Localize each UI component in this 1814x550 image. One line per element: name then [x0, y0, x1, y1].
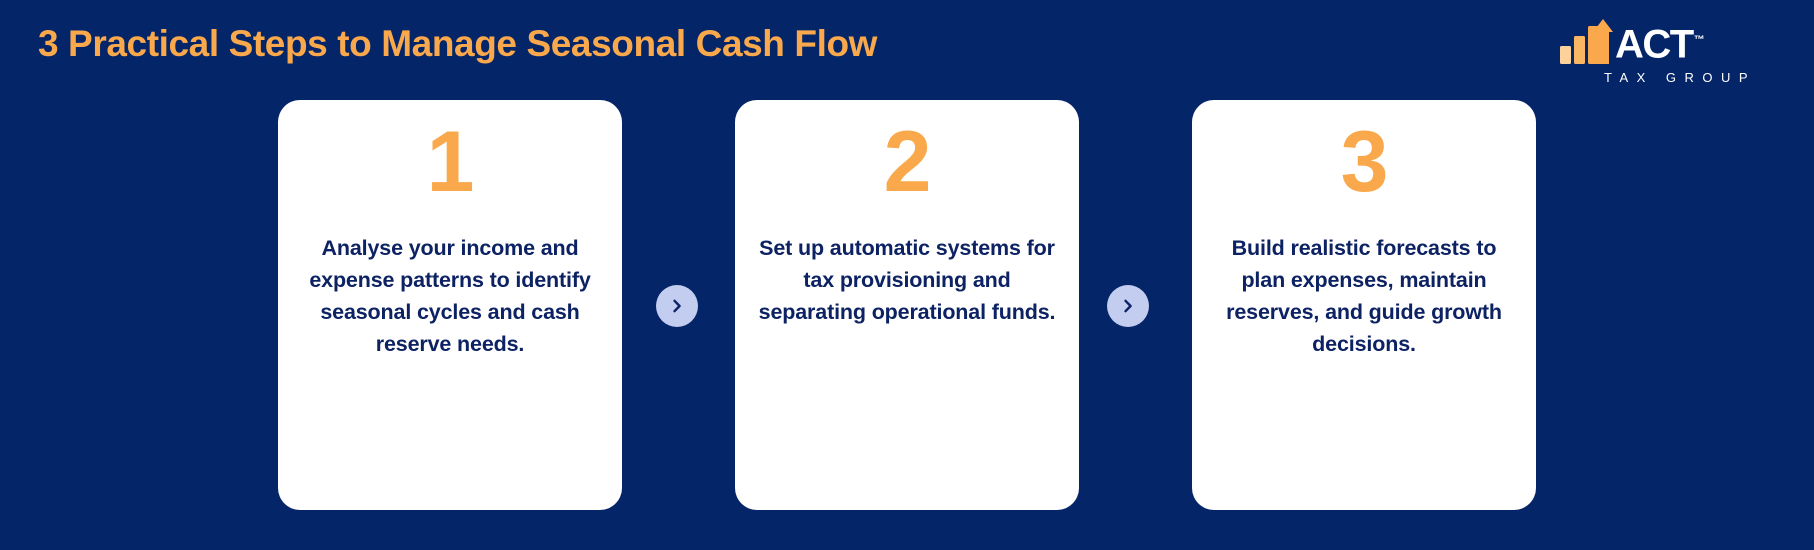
trademark-icon: ™ [1694, 34, 1705, 46]
logo-wordmark-text: ACT [1615, 22, 1693, 66]
step-card-1: 1 Analyse your income and expense patter… [278, 100, 622, 510]
step-number-3: 3 [1341, 114, 1388, 210]
logo-bar-1 [1560, 46, 1571, 64]
logo-tagline: TAX GROUP [1558, 70, 1778, 85]
infographic-banner: 3 Practical Steps to Manage Seasonal Cas… [0, 0, 1814, 550]
brand-logo: ACT™ TAX GROUP [1558, 20, 1778, 88]
logo-arrow-shaft [1598, 30, 1609, 64]
logo-arrow-head [1593, 19, 1613, 32]
logo-top-row: ACT™ [1558, 20, 1778, 64]
step-card-2: 2 Set up automatic systems for tax provi… [735, 100, 1079, 510]
step-text-2: Set up automatic systems for tax provisi… [753, 232, 1061, 328]
step-number-1: 1 [427, 114, 474, 210]
step-number-2: 2 [884, 114, 931, 210]
step-connector-1 [656, 285, 698, 327]
step-card-3: 3 Build realistic forecasts to plan expe… [1192, 100, 1536, 510]
step-text-3: Build realistic forecasts to plan expens… [1210, 232, 1518, 360]
page-title: 3 Practical Steps to Manage Seasonal Cas… [38, 20, 877, 68]
step-text-1: Analyse your income and expense patterns… [296, 232, 604, 360]
chevron-right-icon [1119, 297, 1137, 315]
logo-wordmark: ACT™ [1615, 20, 1705, 64]
step-connector-2 [1107, 285, 1149, 327]
logo-bar-2 [1574, 36, 1585, 64]
bar-chart-arrow-up-icon [1558, 22, 1614, 64]
chevron-right-icon [668, 297, 686, 315]
